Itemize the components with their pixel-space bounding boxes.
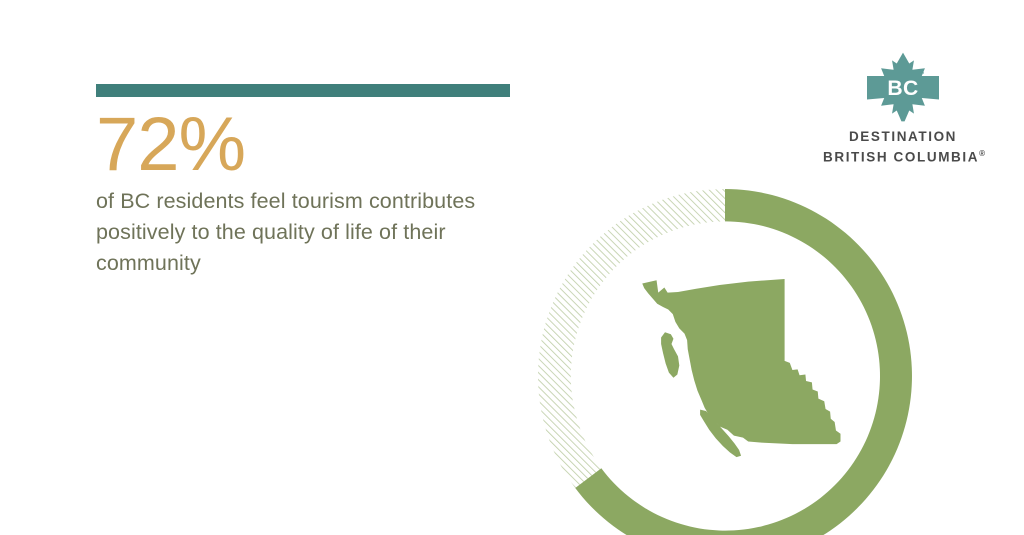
stat-caption: of BC residents feel tourism contributes… [96, 186, 541, 279]
bc-maple-leaf-icon: BC [863, 51, 943, 123]
logo-wordmark-line-2-text: BRITISH COLUMBIA [823, 149, 979, 164]
registered-trademark-symbol: ® [979, 149, 985, 158]
donut-chart-svg [532, 183, 918, 535]
logo-wordmark-line-2: BRITISH COLUMBIA® [823, 146, 983, 166]
destination-bc-logo: BC DESTINATION BRITISH COLUMBIA® [823, 51, 983, 163]
logo-wordmark-line-1: DESTINATION [823, 129, 983, 146]
accent-bar [96, 84, 510, 97]
logo-wordmark: DESTINATION BRITISH COLUMBIA® [823, 129, 983, 166]
donut-chart [532, 183, 918, 535]
logo-bc-letters: BC [887, 77, 918, 100]
stat-value: 72% [96, 104, 546, 186]
infographic-canvas: 72% of BC residents feel tourism contrib… [0, 0, 1024, 535]
statistic-block: 72% of BC residents feel tourism contrib… [96, 104, 546, 279]
british-columbia-map-icon [642, 279, 840, 457]
